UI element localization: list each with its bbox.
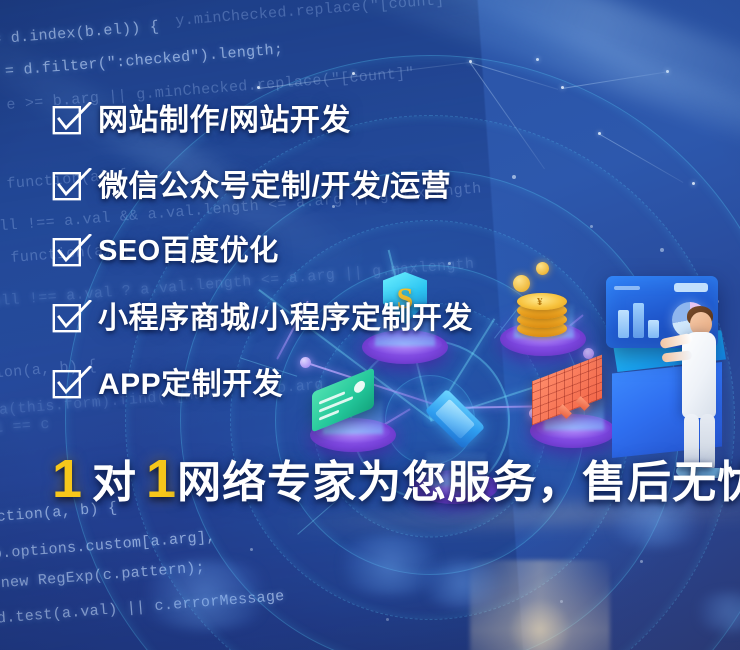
headline-number-first: 1 [52,449,83,509]
checkbox-checked-icon [52,102,92,136]
headline: 1对1网络专家为您服务，售后无忧！ [52,449,740,513]
promo-banner: y.minChecked.replace("[count]" = d.index… [0,0,740,650]
feature-label: 小程序商城/小程序定制开发 [98,293,473,337]
headline-number-second: 1 [146,449,177,509]
headline-middle: 对 [92,458,137,507]
checkbox-checked-icon [52,168,92,202]
checkbox-checked-icon [52,300,92,334]
feature-label: 网站制作/网站开发 [98,95,351,139]
checkbox-checked-icon [52,234,92,268]
feature-label: 微信公众号定制/开发/运营 [98,161,451,205]
feature-label: SEO百度优化 [98,227,279,269]
feature-label: APP定制开发 [98,359,283,403]
checkbox-checked-icon [52,366,92,400]
headline-tail: 网络专家为您服务，售后无忧！ [177,458,740,507]
